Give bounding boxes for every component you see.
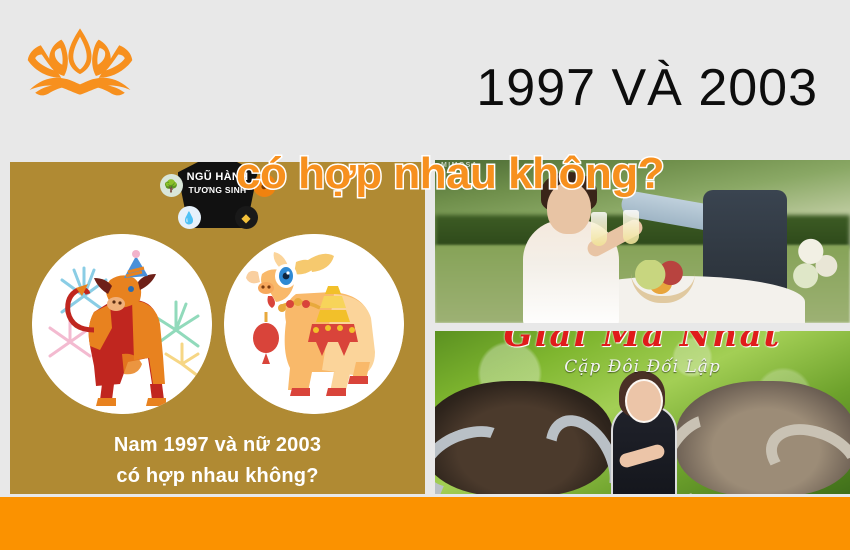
overlay-headline: có hợp nhau không?: [236, 152, 664, 196]
water-element-icon: 💧: [178, 206, 201, 229]
buffalo-horn-left: [435, 413, 526, 494]
champagne-glass-left: [591, 212, 607, 246]
lotus-flower-logo: [24, 24, 136, 100]
buffalo-photo-subtitle: Cặp Đôi Đối Lập: [435, 357, 850, 377]
flower-arrangement: [790, 234, 842, 292]
buffalo2-horn-right: [755, 411, 850, 494]
left-panel-caption: Nam 1997 và nữ 2003 có hợp nhau không?: [10, 430, 425, 492]
metal-element-icon: ◆: [235, 206, 258, 229]
dark-buffalo: [435, 381, 613, 494]
hedge-background: [435, 215, 850, 248]
champagne-glass-right: [623, 210, 639, 244]
ox-with-party-hat-illustration: [32, 234, 212, 414]
wood-element-icon: 🌳: [160, 174, 183, 197]
page-title: 1997 VÀ 2003: [476, 62, 818, 114]
orange-footer-band: [0, 497, 850, 550]
page-root: 1997 VÀ 2003 NGŨ HÀNH TƯƠNG SINH 🌳 ● 💧 ◆: [0, 0, 850, 550]
caption-line-1: Nam 1997 và nữ 2003: [10, 430, 425, 461]
two-buffaloes-with-woman-photo: Giải Mã Nhất Cặp Đôi Đối Lập: [435, 331, 850, 494]
woman-figure-face: [625, 379, 663, 423]
golden-ox-with-ingots-illustration: [224, 234, 404, 414]
caption-line-2: có hợp nhau không?: [10, 461, 425, 492]
light-buffalo: [676, 381, 850, 494]
buffalo-photo-title: Giải Mã Nhất: [435, 331, 850, 355]
left-gold-panel: NGŨ HÀNH TƯƠNG SINH 🌳 ● 💧 ◆: [10, 162, 425, 494]
